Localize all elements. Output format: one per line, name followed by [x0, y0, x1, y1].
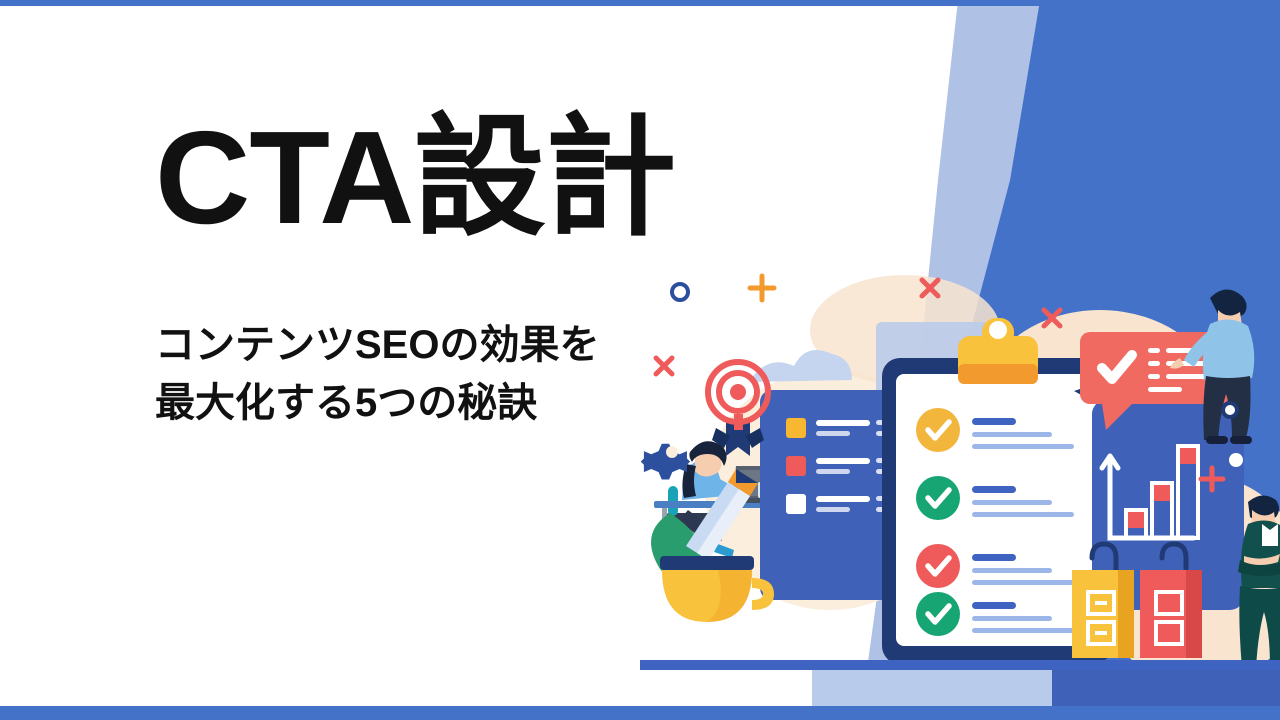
check-circle-3: [916, 544, 960, 588]
task-swatch-white: [786, 494, 806, 514]
ground-shelf: [640, 660, 1280, 670]
check-circle-4: [916, 592, 960, 636]
page-subtitle: コンテンツSEOの効果を 最大化する5つの秘訣: [155, 316, 815, 432]
page-title: CTA設計: [155, 112, 815, 244]
check-circle-1: [916, 408, 960, 452]
ground-block-pale: [812, 670, 1052, 710]
gear-icon: [641, 444, 690, 480]
slide-canvas: CTA設計 コンテンツSEOの効果を 最大化する5つの秘訣: [0, 0, 1280, 720]
subtitle-line-1: コンテンツSEOの効果を: [155, 316, 815, 374]
task-swatch-red: [786, 456, 806, 476]
bottom-accent-rule: [0, 706, 1280, 720]
ground-block-blue: [1052, 670, 1280, 710]
slide-text-block: CTA設計 コンテンツSEOの効果を 最大化する5つの秘訣: [155, 112, 815, 432]
check-circle-2: [916, 476, 960, 520]
subtitle-line-2: 最大化する5つの秘訣: [155, 374, 815, 432]
top-accent-rule: [0, 0, 1280, 6]
dot-decoration: [1229, 453, 1243, 467]
